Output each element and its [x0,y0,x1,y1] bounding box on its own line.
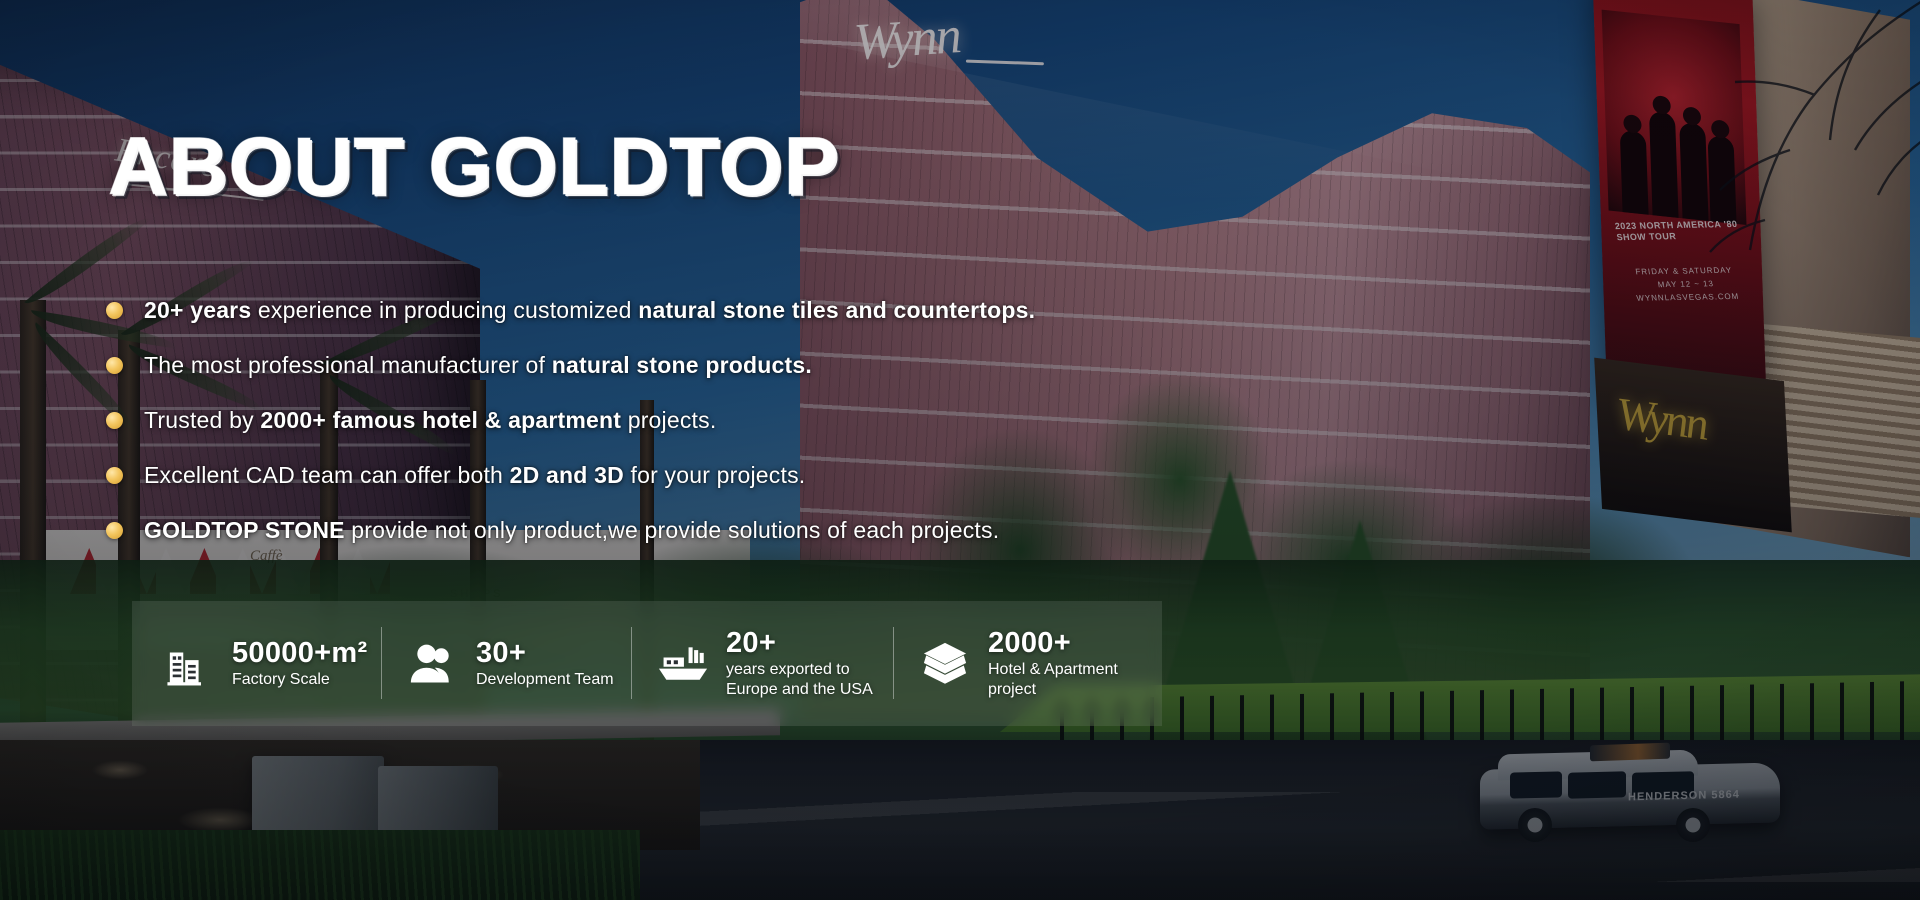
bullet-text: GOLDTOP STONE provide not only product,w… [144,517,999,544]
list-item: GOLDTOP STONE provide not only product,w… [106,503,1406,558]
stat-text: 30+ Development Team [476,638,614,690]
stat-item-hotel-apartment: 2000+ Hotel & Apartment project [894,601,1162,726]
people-team-icon [404,642,462,686]
stat-number: 30+ [476,638,614,668]
bullet-strong: 2000+ famous hotel & apartment [260,407,621,433]
stat-item-factory-scale: 50000+m² Factory Scale [132,601,382,726]
bullet-pre: Trusted by [144,407,260,433]
stat-label: years exported to Europe and the USA [726,660,873,699]
hero-banner: Encore Wynn 2023 NORTH AMERICA '80 SHOW … [0,0,1920,900]
list-item: 20+ years experience in producing custom… [106,283,1406,338]
bullet-text: The most professional manufacturer of na… [144,352,812,379]
stat-number: 50000+m² [232,638,367,668]
bullet-mid: experience in producing customized [251,297,638,323]
bullet-text: Excellent CAD team can offer both 2D and… [144,462,805,489]
bullet-strong: 20+ years [144,297,251,323]
stat-text: 2000+ Hotel & Apartment project [988,628,1118,699]
stat-text: 20+ years exported to Europe and the USA [726,628,873,699]
bullet-text: 20+ years experience in producing custom… [144,297,1035,324]
bullet-strong: natural stone products. [552,352,812,378]
list-item: Excellent CAD team can offer both 2D and… [106,448,1406,503]
factory-building-icon [160,641,218,687]
layers-stack-icon [916,641,974,687]
list-item: The most professional manufacturer of na… [106,338,1406,393]
bullet-dot-icon [106,522,123,539]
bullet-mid: provide not only product,we provide solu… [345,517,1000,543]
bullet-pre: The most professional manufacturer of [144,352,552,378]
stat-text: 50000+m² Factory Scale [232,638,367,690]
bullet-text: Trusted by 2000+ famous hotel & apartmen… [144,407,716,434]
bullet-mid: for your projects. [624,462,805,488]
feature-bullet-list: 20+ years experience in producing custom… [106,283,1406,558]
stat-item-years-exported: 20+ years exported to Europe and the USA [632,601,894,726]
bullet-dot-icon [106,302,123,319]
bullet-strong: GOLDTOP STONE [144,517,345,543]
bullet-dot-icon [106,467,123,484]
bullet-mid: projects. [621,407,716,433]
bullet-dot-icon [106,412,123,429]
stat-label: Factory Scale [232,670,367,690]
bullet-dot-icon [106,357,123,374]
stats-bar: 50000+m² Factory Scale 30+ Developme [132,601,1162,726]
page-title: ABOUT GOLDTOP [108,126,839,208]
hero-content: ABOUT GOLDTOP 20+ years experience in pr… [0,0,1920,900]
cargo-ship-icon [654,644,712,684]
bullet-strong: 2D and 3D [510,462,624,488]
bullet-pre: Excellent CAD team can offer both [144,462,510,488]
stat-label: Development Team [476,670,614,690]
bullet-strong-2: natural stone tiles and countertops. [638,297,1035,323]
stat-number: 20+ [726,628,873,658]
stat-item-development-team: 30+ Development Team [382,601,632,726]
list-item: Trusted by 2000+ famous hotel & apartmen… [106,393,1406,448]
stat-number: 2000+ [988,628,1118,658]
stat-label: Hotel & Apartment project [988,660,1118,699]
